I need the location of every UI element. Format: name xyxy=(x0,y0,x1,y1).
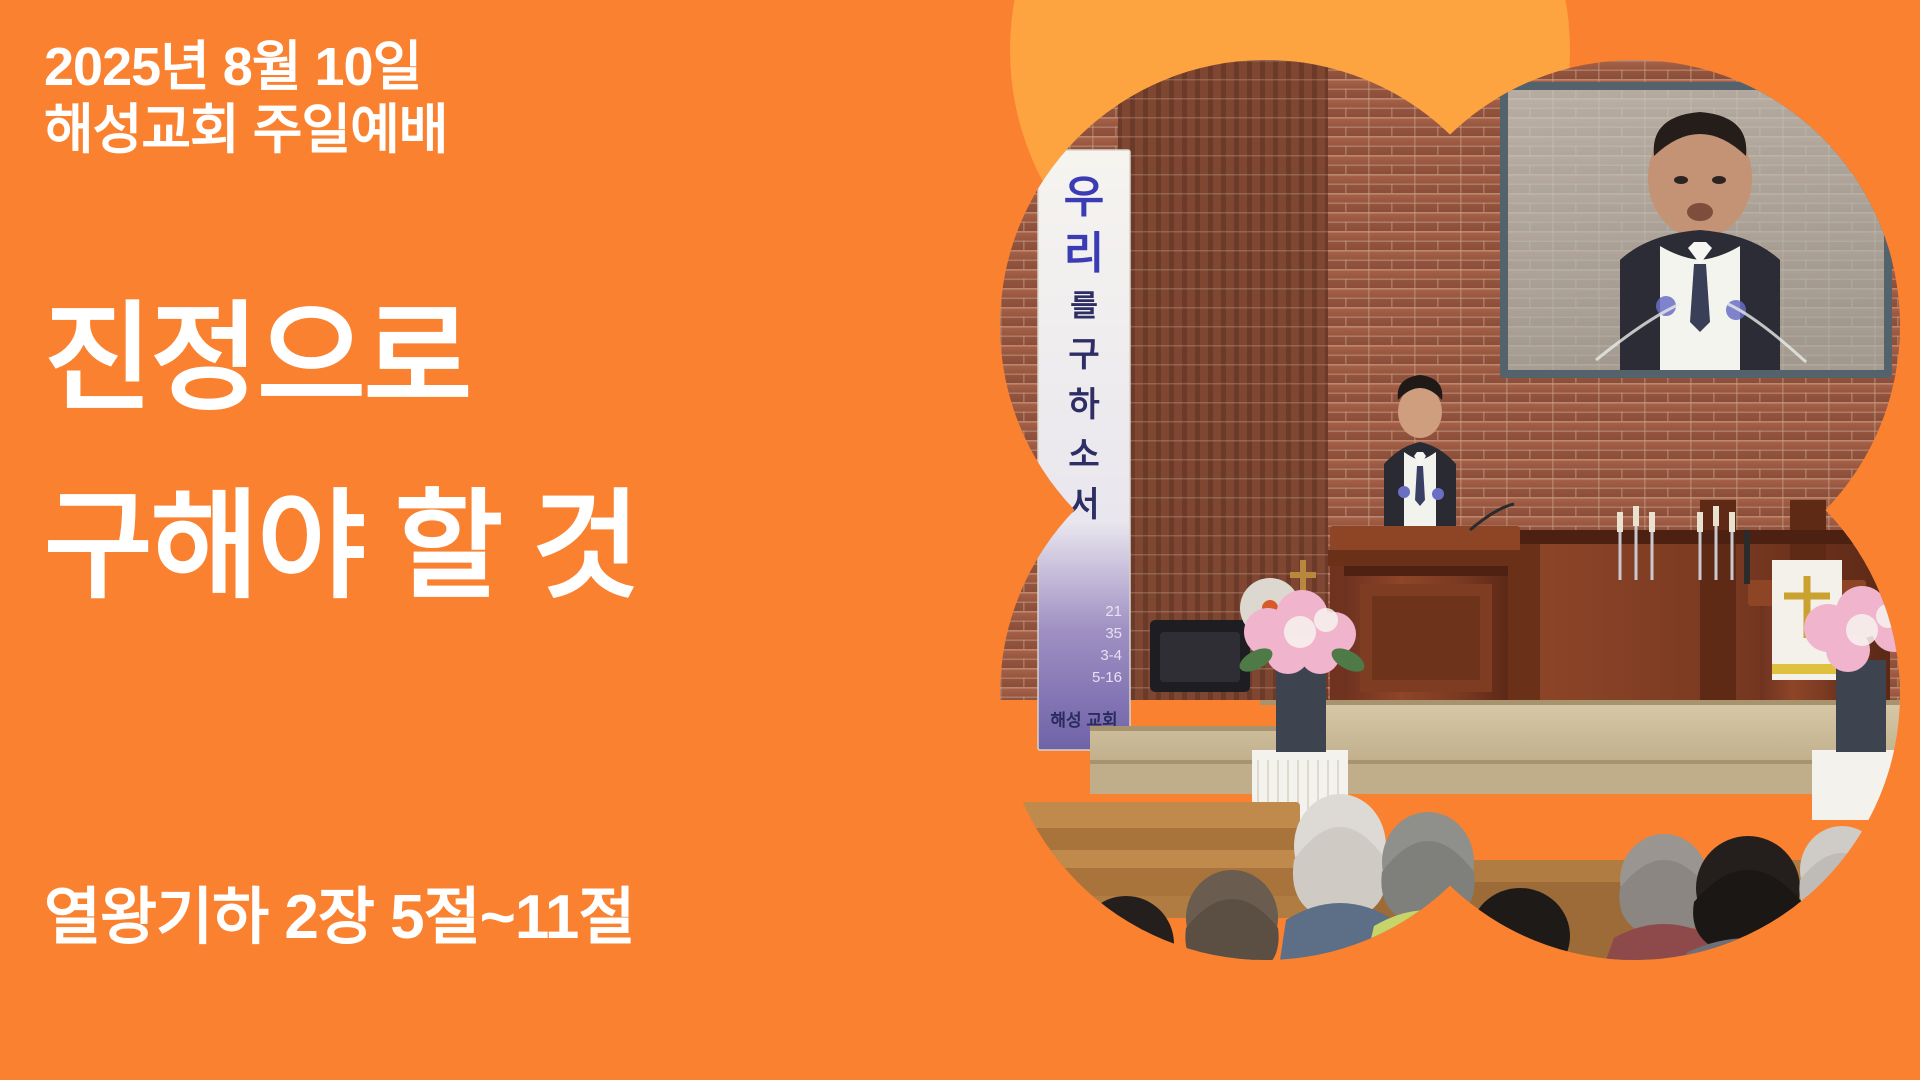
sermon-photo: 우 리 를 구 하 소 서 21 35 3-4 5-16 xyxy=(1000,60,1900,960)
sermon-title: 진정으로 구해야 할 것 xyxy=(44,300,944,606)
svg-text:5-16: 5-16 xyxy=(1092,669,1122,686)
church-sanctuary-illustration: 우 리 를 구 하 소 서 21 35 3-4 5-16 xyxy=(1000,60,1900,960)
service-name: 해성교회 주일예배 xyxy=(44,99,447,162)
sermon-title-line-1: 진정으로 xyxy=(44,300,944,418)
svg-text:우: 우 xyxy=(1064,173,1104,222)
service-date: 2025년 8월 10일 xyxy=(44,36,447,99)
chancel-steps xyxy=(1090,700,1900,794)
svg-text:구: 구 xyxy=(1068,336,1099,374)
svg-text:리: 리 xyxy=(1064,229,1104,278)
wall-banner: 우 리 를 구 하 소 서 21 35 3-4 5-16 xyxy=(1038,150,1130,750)
svg-text:를: 를 xyxy=(1070,290,1098,323)
svg-text:21: 21 xyxy=(1105,603,1122,620)
projection-screen xyxy=(1500,82,1892,378)
pulpit xyxy=(1328,504,1524,706)
photo-clip-region: 우 리 를 구 하 소 서 21 35 3-4 5-16 xyxy=(1000,60,1900,960)
service-date-block: 2025년 8월 10일 해성교회 주일예배 xyxy=(44,36,447,161)
text-column: 2025년 8월 10일 해성교회 주일예배 진정으로 구해야 할 것 열왕기하… xyxy=(44,0,944,1080)
svg-text:소: 소 xyxy=(1068,436,1099,474)
svg-text:하: 하 xyxy=(1068,386,1099,424)
scripture-reference: 열왕기하 2장 5절~11절 xyxy=(44,866,634,956)
sermon-title-line-2: 구해야 할 것 xyxy=(44,488,944,606)
svg-text:3-4: 3-4 xyxy=(1100,647,1122,664)
svg-text:서: 서 xyxy=(1068,486,1099,524)
svg-text:35: 35 xyxy=(1105,625,1122,642)
sermon-thumbnail: 우 리 를 구 하 소 서 21 35 3-4 5-16 xyxy=(0,0,1920,1080)
